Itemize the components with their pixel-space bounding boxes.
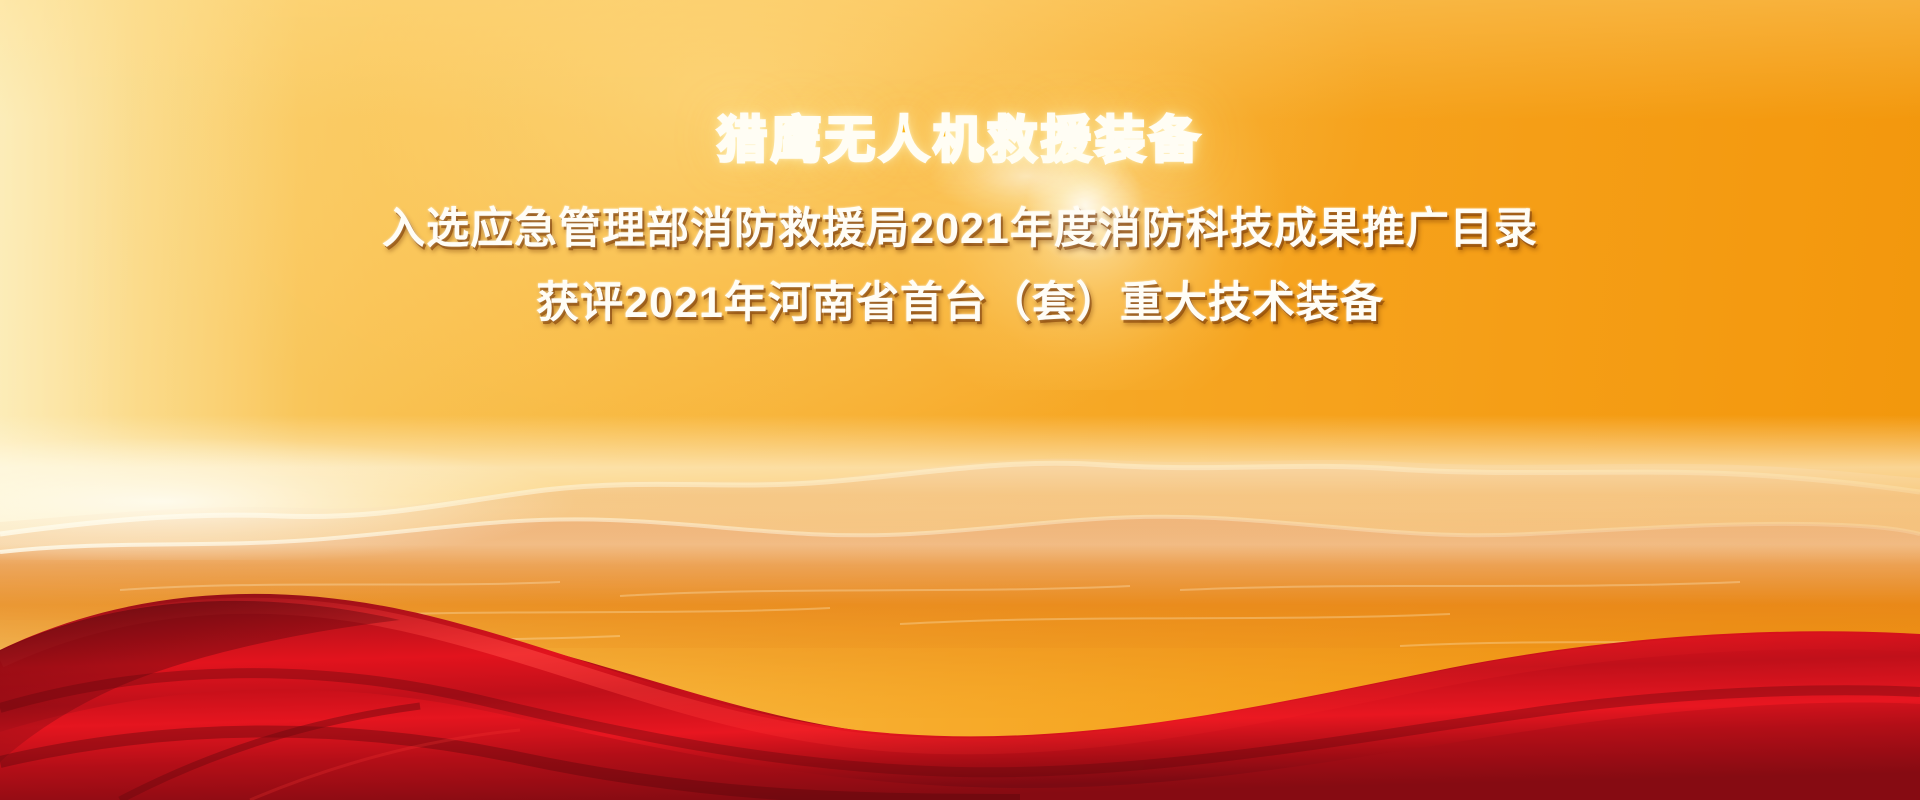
promo-banner: 猎鹰无人机救援装备 入选应急管理部消防救援局2021年度消防科技成果推广目录 获… xyxy=(0,0,1920,800)
subtitle-group: 入选应急管理部消防救援局2021年度消防科技成果推广目录 获评2021年河南省首… xyxy=(382,194,1538,330)
red-silk-ribbon xyxy=(0,500,1920,800)
page-title: 猎鹰无人机救援装备 xyxy=(717,113,1203,168)
subtitle-line-2: 获评2021年河南省首台（套）重大技术装备 xyxy=(536,268,1384,330)
subtitle-line-1: 入选应急管理部消防救援局2021年度消防科技成果推广目录 xyxy=(382,194,1538,256)
banner-text-block: 猎鹰无人机救援装备 入选应急管理部消防救援局2021年度消防科技成果推广目录 获… xyxy=(0,0,1920,420)
